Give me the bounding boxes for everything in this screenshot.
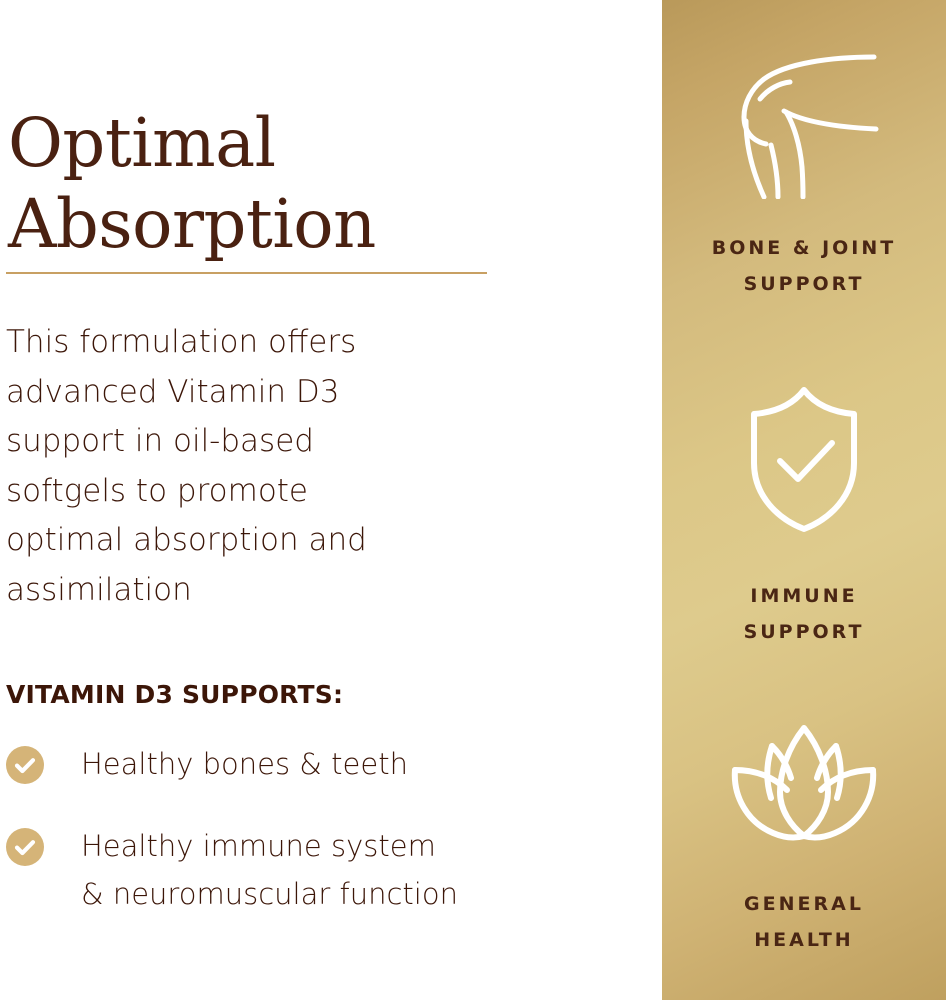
page-title-line-1: Optimal xyxy=(8,103,648,184)
feature-immune-support: IMMUNE SUPPORT xyxy=(662,384,946,650)
page-title: Optimal Absorption xyxy=(8,103,648,265)
feature-label-line-1: IMMUNE xyxy=(662,578,946,614)
benefit-text: Healthy bones & teeth xyxy=(81,740,408,788)
feature-general-health: GENERAL HEALTH xyxy=(662,714,946,958)
feature-label-line-2: SUPPORT xyxy=(662,266,946,302)
feature-label-line-1: BONE & JOINT xyxy=(662,230,946,266)
title-divider xyxy=(6,272,487,274)
intro-line-3: support in oil-based xyxy=(6,417,476,467)
shield-check-icon xyxy=(662,384,946,534)
benefit-list: Healthy bones & teeth Healthy immune sys… xyxy=(6,740,566,952)
feature-label-line-2: HEALTH xyxy=(662,922,946,958)
benefit-line-2: & neuromuscular function xyxy=(81,870,458,918)
list-item: Healthy bones & teeth xyxy=(6,740,566,788)
supports-heading: VITAMIN D3 SUPPORTS: xyxy=(6,680,343,710)
check-circle-icon xyxy=(6,828,44,866)
feature-label: IMMUNE SUPPORT xyxy=(662,578,946,650)
lotus-flower-icon xyxy=(662,714,946,850)
benefit-line-1: Healthy bones & teeth xyxy=(81,740,408,788)
intro-line-1: This formulation offers xyxy=(6,318,476,368)
intro-line-2: advanced Vitamin D3 xyxy=(6,368,476,418)
list-item: Healthy immune system & neuromuscular fu… xyxy=(6,822,566,918)
feature-label-line-2: SUPPORT xyxy=(662,614,946,650)
feature-label-line-1: GENERAL xyxy=(662,886,946,922)
benefit-line-1: Healthy immune system xyxy=(81,822,458,870)
feature-label: GENERAL HEALTH xyxy=(662,886,946,958)
feature-panel: BONE & JOINT SUPPORT IMMUNE SUPPORT xyxy=(662,0,946,1000)
knee-joint-icon xyxy=(662,48,946,200)
intro-line-5: optimal absorption and xyxy=(6,516,476,566)
check-circle-icon xyxy=(6,746,44,784)
feature-bone-joint: BONE & JOINT SUPPORT xyxy=(662,48,946,302)
page-title-line-2: Absorption xyxy=(8,184,648,265)
benefit-text: Healthy immune system & neuromuscular fu… xyxy=(81,822,458,918)
intro-line-4: softgels to promote xyxy=(6,467,476,517)
feature-label: BONE & JOINT SUPPORT xyxy=(662,230,946,302)
marketing-infographic: Optimal Absorption This formulation offe… xyxy=(0,0,946,1000)
intro-paragraph: This formulation offers advanced Vitamin… xyxy=(6,318,476,615)
left-content-panel: Optimal Absorption This formulation offe… xyxy=(0,0,662,1000)
intro-line-6: assimilation xyxy=(6,566,476,616)
